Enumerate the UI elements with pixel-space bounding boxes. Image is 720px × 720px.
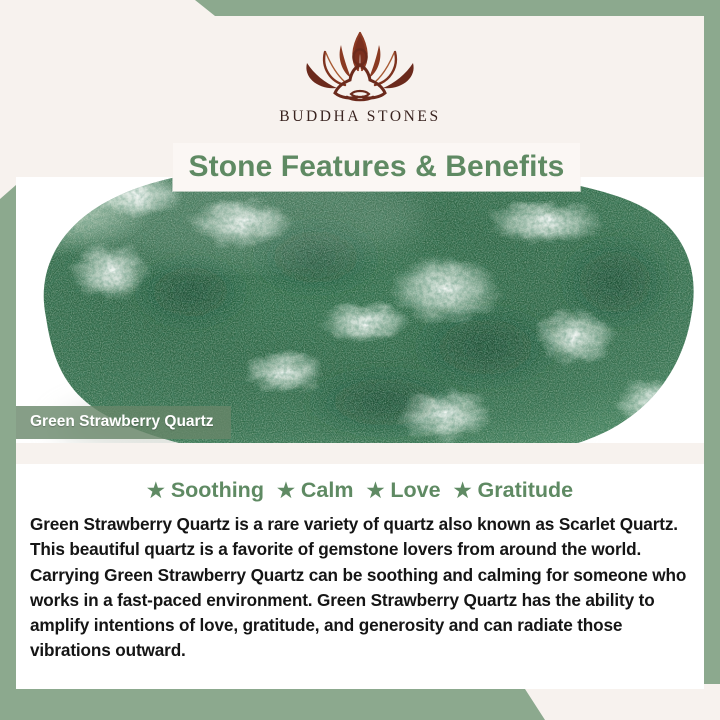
benefit-item-gratitude: ★ Gratitude — [454, 478, 574, 503]
benefits-row: ★ Soothing ★ Calm ★ Love ★ Gratitude — [16, 478, 704, 503]
divider-strip — [16, 443, 704, 464]
page-title-plate: Stone Features & Benefits — [173, 143, 580, 191]
benefit-item-love: ★ Love — [366, 478, 440, 503]
benefit-label: Gratitude — [478, 478, 574, 503]
star-icon: ★ — [454, 481, 472, 501]
star-icon: ★ — [147, 481, 165, 501]
decor-band-top — [195, 0, 720, 16]
star-icon: ★ — [366, 481, 384, 501]
content-card: BUDDHA STONES Stone Features & Benefits — [16, 16, 704, 689]
star-icon: ★ — [277, 481, 295, 501]
benefit-label: Calm — [301, 478, 354, 503]
benefit-label: Love — [390, 478, 440, 503]
benefit-item-calm: ★ Calm — [277, 478, 354, 503]
decor-band-right — [704, 0, 720, 684]
stone-photo: Green Strawberry Quartz — [16, 177, 704, 443]
infographic-page: BUDDHA STONES Stone Features & Benefits — [0, 0, 720, 720]
decor-band-bottom — [0, 689, 545, 720]
stone-photo-image — [16, 177, 704, 443]
photo-caption-text: Green Strawberry Quartz — [30, 413, 213, 430]
brand-wordmark: BUDDHA STONES — [279, 108, 440, 126]
page-title: Stone Features & Benefits — [189, 150, 565, 184]
photo-caption: Green Strawberry Quartz — [16, 406, 231, 439]
benefit-label: Soothing — [171, 478, 264, 503]
lotus-meditation-figure-icon — [285, 28, 435, 106]
description-text: Green Strawberry Quartz is a rare variet… — [30, 512, 690, 664]
description-area: ★ Soothing ★ Calm ★ Love ★ Gratitude Gre… — [16, 443, 704, 689]
decor-band-left — [0, 185, 16, 720]
benefit-item-soothing: ★ Soothing — [147, 478, 264, 503]
